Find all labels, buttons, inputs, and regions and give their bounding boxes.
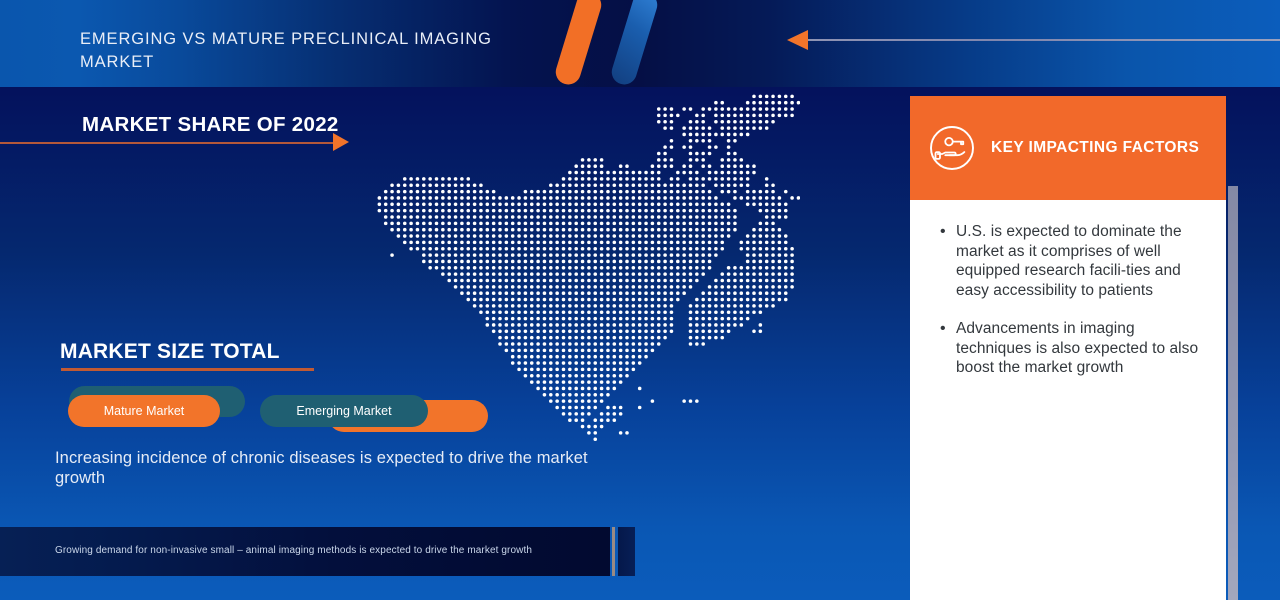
market-size-total-title: MARKET SIZE TOTAL: [60, 340, 280, 364]
market-share-arrow-line: [0, 142, 335, 144]
key-factors-card-header: KEY IMPACTING FACTORS: [910, 96, 1226, 200]
hand-holding-key-icon: [928, 124, 976, 172]
double-bar-logo-icon: [553, 0, 605, 87]
market-size-total-underline: [61, 368, 314, 371]
legend-item-mature-market[interactable]: Mature Market: [68, 395, 220, 427]
list-item-text: Advancements in imaging techniques is al…: [956, 319, 1208, 378]
page-title: EMERGING VS MATURE PRECLINICAL IMAGING M…: [80, 28, 550, 74]
list-item-text: U.S. is expected to dominate the market …: [956, 222, 1208, 300]
infographic-slide: EMERGING VS MATURE PRECLINICAL IMAGING M…: [0, 0, 1280, 600]
arrow-right-icon: [333, 133, 349, 151]
double-bar-logo-icon-secondary: [609, 0, 661, 87]
list-item: • Advancements in imaging techniques is …: [940, 319, 1208, 378]
market-size-legend: Mature Market Emerging Market: [60, 386, 480, 438]
legend-label-mature-market: Mature Market: [104, 404, 185, 418]
header-band: EMERGING VS MATURE PRECLINICAL IMAGING M…: [0, 0, 1280, 87]
key-factors-bullet-list: • U.S. is expected to dominate the marke…: [910, 200, 1226, 600]
market-share-title: MARKET SHARE OF 2022: [82, 113, 339, 137]
market-size-caption: Increasing incidence of chronic diseases…: [55, 449, 615, 488]
key-factors-card-shadow: [1228, 186, 1238, 600]
bottom-banner-text: Growing demand for non-invasive small – …: [55, 545, 532, 556]
header-arrow-line: [806, 39, 1280, 41]
bottom-banner-tail: [618, 527, 635, 576]
arrow-left-icon: [787, 30, 808, 50]
legend-item-emerging-market[interactable]: Emerging Market: [260, 395, 428, 427]
key-factors-title: KEY IMPACTING FACTORS: [991, 139, 1199, 157]
list-item: • U.S. is expected to dominate the marke…: [940, 222, 1208, 300]
legend-label-emerging-market: Emerging Market: [296, 404, 391, 418]
bullet-icon: •: [940, 319, 956, 378]
bottom-banner-divider: [612, 527, 615, 576]
bullet-icon: •: [940, 222, 956, 300]
